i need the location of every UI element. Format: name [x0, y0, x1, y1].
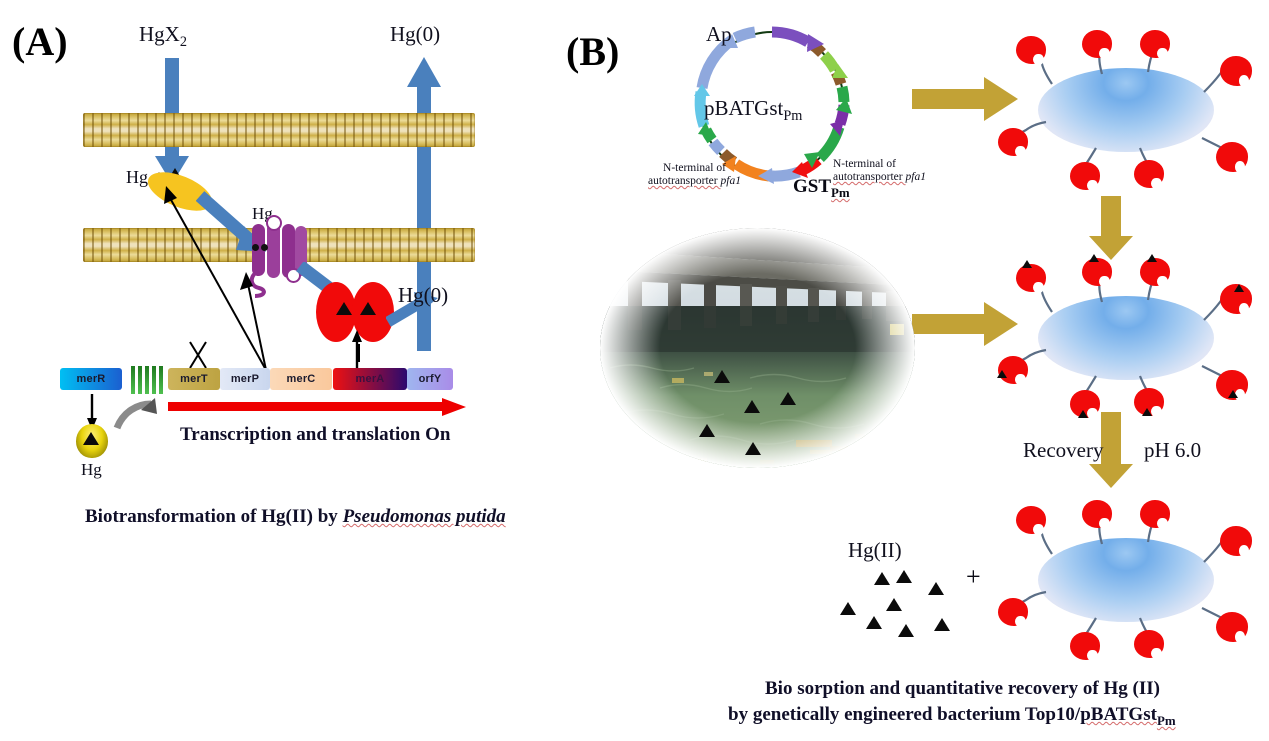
hg0-top-label: Hg(0)	[390, 22, 440, 47]
gene-merR[interactable]: merR	[60, 368, 122, 390]
panel-b-label: (B)	[566, 28, 619, 75]
hg-triangle-bound	[1022, 260, 1032, 268]
panel-b-caption-line1: Bio sorption and quantitative recovery o…	[765, 678, 1160, 700]
gst-receptor	[1070, 162, 1100, 190]
gene-orfY[interactable]: orfY	[407, 368, 453, 390]
gst-receptor	[1070, 632, 1100, 660]
gst-receptor	[1216, 612, 1248, 642]
gst-receptor	[1220, 56, 1252, 86]
gst-receptor	[998, 128, 1028, 156]
gene-merC[interactable]: merC	[270, 368, 332, 390]
mera-tick	[358, 344, 360, 362]
hg-triangle-water-5	[745, 442, 761, 455]
gst-receptor	[1220, 526, 1252, 556]
plasmid-ap-label: Ap	[706, 22, 732, 47]
cell-bottom	[990, 500, 1260, 660]
gst-receptor	[998, 598, 1028, 626]
hg-sensor-label: Hg	[81, 460, 102, 480]
mer-operon: merR merT merP merC merA orfY	[0, 368, 480, 394]
panel-a-label: (A)	[12, 18, 68, 65]
hg-triangle-water-3	[780, 392, 796, 405]
transcription-label: Transcription and translation On	[180, 424, 450, 446]
gst-receptor	[1082, 258, 1112, 286]
cell-top	[990, 30, 1260, 190]
gst-receptor	[1140, 500, 1170, 528]
hg-triangle-water-2	[744, 400, 760, 413]
hg-triangle-bound	[997, 370, 1007, 378]
cell-middle	[990, 258, 1260, 418]
gst-receptor	[1082, 30, 1112, 58]
gst-receptor	[1134, 630, 1164, 658]
inner-membrane-right	[300, 228, 475, 262]
merr-activation-arrow	[113, 396, 159, 432]
hg-triangle-free-3	[928, 582, 944, 595]
hg-triangle-bound	[1234, 284, 1244, 292]
hg-triangle-free-5	[886, 598, 902, 611]
ph-label: pH 6.0	[1144, 438, 1201, 463]
outer-membrane	[83, 113, 475, 147]
nterm-left-label: N-terminal of autotransporter pfa1	[648, 162, 741, 188]
gst-receptor	[1016, 36, 1046, 64]
gst-receptor	[1134, 160, 1164, 188]
gst-receptor	[1016, 506, 1046, 534]
transcription-arrow	[168, 398, 468, 416]
hg-triangle-free-6	[866, 616, 882, 629]
hg-triangle-free-4	[840, 602, 856, 615]
hg-triangle-free-1	[874, 572, 890, 585]
hg-triangle-bound	[1142, 408, 1152, 416]
hg-triangle-water-4	[699, 424, 715, 437]
gst-receptor	[1082, 500, 1112, 528]
plus-sign: +	[966, 562, 981, 592]
hg-triangle-mera-2	[360, 302, 376, 315]
hg-triangle-bound	[1147, 254, 1157, 262]
hgx2-label: HgX2	[139, 22, 187, 51]
hg-triangle-free-8	[934, 618, 950, 631]
plasmid-name-label: pBATGstPm	[704, 96, 802, 125]
recovery-label: Recovery	[1023, 438, 1103, 463]
gene-merT[interactable]: merT	[168, 368, 220, 390]
hg-triangle-water-1	[714, 370, 730, 383]
gst-receptor	[1216, 142, 1248, 172]
gene-merA[interactable]: merA	[333, 368, 407, 390]
hg0-bottom-label: Hg(0)	[398, 283, 448, 308]
hg-triangle-free-7	[898, 624, 914, 637]
gold-arrow-down-1	[1088, 196, 1134, 262]
hg-triangle-bound	[1228, 390, 1238, 398]
promoter-bars	[131, 366, 164, 394]
hg2-released-label: Hg(II)	[848, 538, 902, 563]
gene-merP[interactable]: merP	[220, 368, 270, 390]
bridge-over-water-photo	[600, 228, 915, 468]
hg-triangle-bound	[1078, 410, 1088, 418]
hg-triangle-free-2	[896, 570, 912, 583]
hg-triangle-mera-1	[336, 302, 352, 315]
gst-receptor	[1140, 258, 1170, 286]
panel-a-caption: Biotransformation of Hg(II) by Pseudomon…	[85, 506, 506, 528]
panel-b-caption-line2: by genetically engineered bacterium Top1…	[728, 704, 1176, 729]
hg-triangle-bound	[1089, 254, 1099, 262]
hg-triangle-sensor	[83, 432, 99, 445]
gst-receptor	[1140, 30, 1170, 58]
gst-receptor	[1016, 264, 1046, 292]
nterm-right-label: N-terminal of autotransporter pfa1	[833, 158, 926, 184]
